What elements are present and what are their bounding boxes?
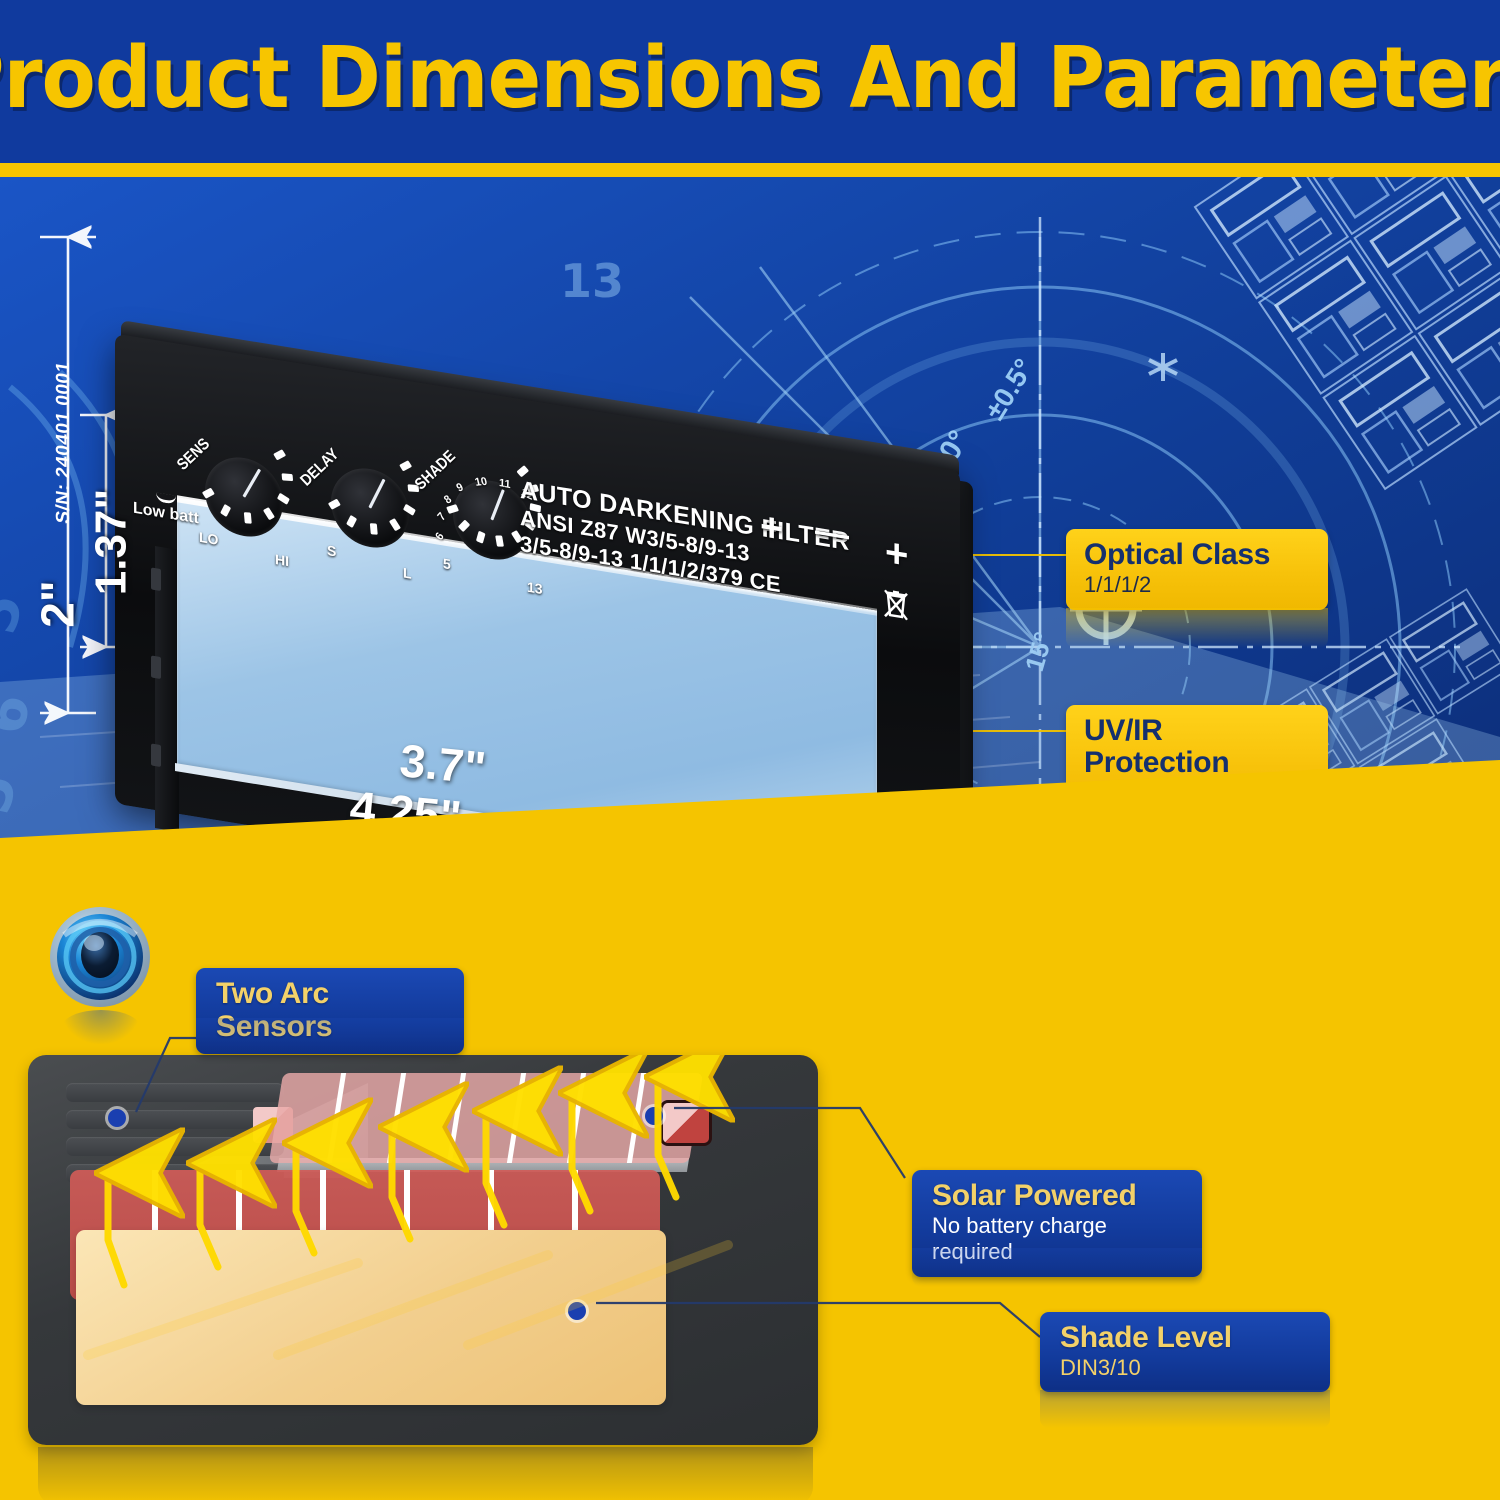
plus-marker-right: + [885,530,908,579]
shade-scale-11: 11 [499,477,511,491]
knob-delay-max-label: L [403,564,412,581]
dimension-height-outer: 2" [31,580,85,627]
callout-shade-level[interactable]: Shade Level DIN3/10 [1040,1312,1330,1392]
callout-optical-class-subtitle: 1/1/1/2 [1084,572,1312,598]
page-title: Product Dimensions And Parameters [0,36,1500,127]
knob-delay-min-label: S [327,542,336,560]
product-left-rail [155,546,179,832]
callout-solar-powered-reflection [912,1248,1202,1286]
dimension-height-view: 1.37" [86,489,136,596]
knob-shade-max-label: 13 [527,579,543,598]
callout-shade-level-title: Shade Level [1060,1321,1312,1354]
rail-tab [151,567,161,591]
knob-shade-min-label: 5 [443,555,451,572]
shade-scale-10: 10 [474,476,489,489]
header-accent-stripe [0,163,1500,177]
crossed-out-wheelie-bin-icon [883,586,909,622]
knob-sens-dial[interactable] [205,452,283,543]
knob-delay[interactable]: DELAY S L [331,463,409,554]
callout-two-arc-sensors-reflection [196,1018,464,1054]
callout-optical-class-title: Optical Class [1084,539,1312,571]
callout-optical-class-reflection [1066,608,1328,648]
knob-sens[interactable]: SENS LO HI [205,452,283,543]
low-battery-arc-icon [156,492,176,504]
serial-number-text: S/N: 240401 0001 [53,262,75,525]
rail-tab [151,655,161,679]
callout-shade-level-subtitle: DIN3/10 [1060,1355,1312,1381]
page-header: Product Dimensions And Parameters [0,0,1500,163]
minus-marker: — [815,511,849,556]
plus-marker-left: + [760,504,783,553]
callout-solar-powered-title: Solar Powered [932,1179,1184,1212]
callout-optical-class[interactable]: Optical Class 1/1/1/2 [1066,529,1328,610]
rail-tab [151,743,161,767]
callout-shade-level-reflection [1040,1390,1330,1428]
knob-sens-max-label: HI [275,551,289,569]
knob-sens-min-label: LO [199,529,218,548]
callout-uvir-title: UV/IR Protection [1084,715,1312,780]
knob-delay-dial[interactable] [331,463,409,554]
